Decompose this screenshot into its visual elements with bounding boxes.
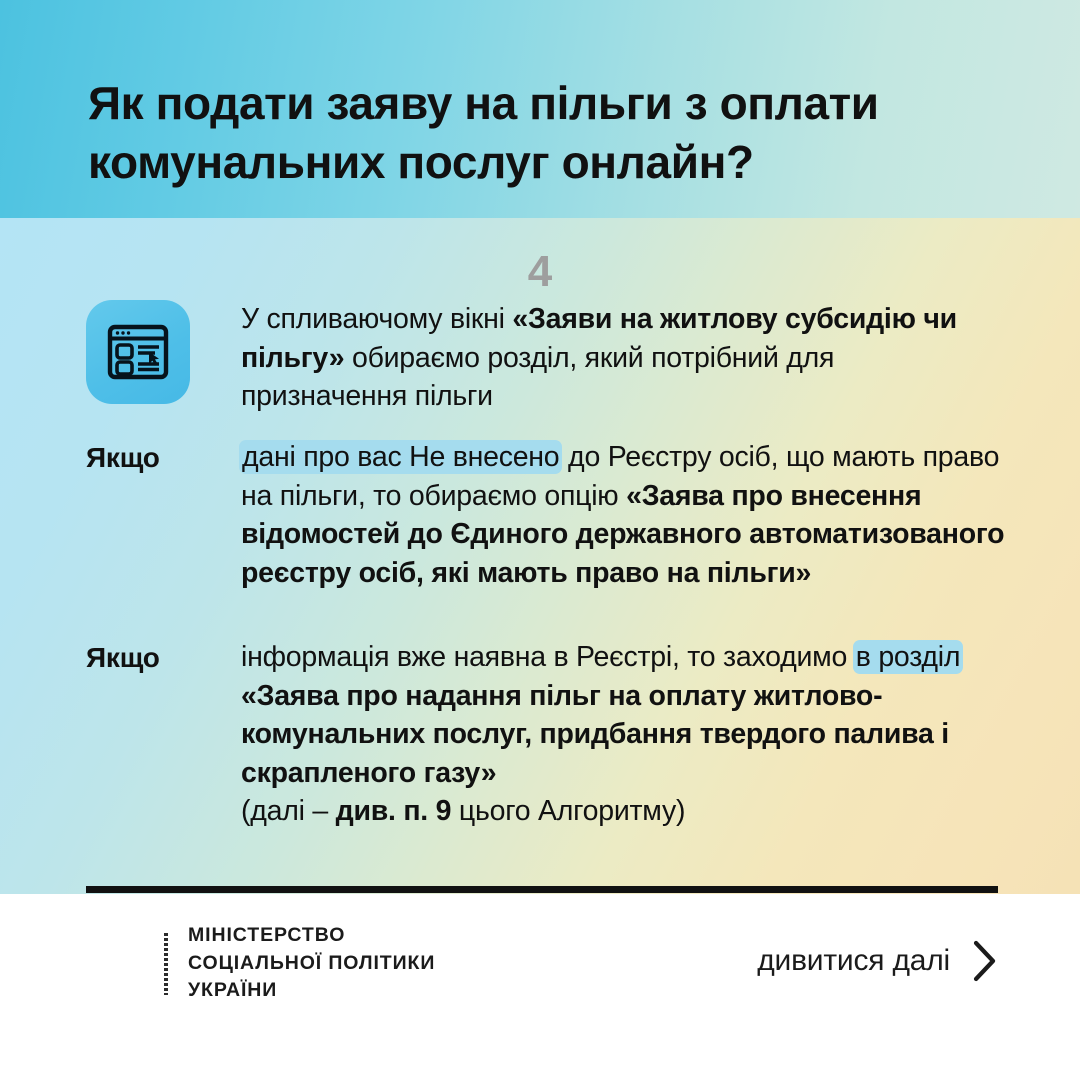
ukraine-trident-logo bbox=[86, 927, 148, 1001]
block-3-text: інформація вже наявна в Реєстрі, то захо… bbox=[241, 638, 1006, 831]
next-page-link[interactable]: дивитися далі bbox=[757, 940, 998, 982]
browser-window-select-icon bbox=[86, 300, 190, 404]
block-2-text: дані про вас Не внесено до Реєстру осіб,… bbox=[241, 438, 1006, 592]
footer-divider bbox=[86, 886, 998, 893]
page-title: Як подати заяву на пільги з оплати комун… bbox=[88, 74, 998, 192]
chevron-right-icon bbox=[972, 940, 998, 982]
block-3-text-part1: інформація вже наявна в Реєстрі, то захо… bbox=[241, 641, 855, 673]
block-1-text: У спливаючому вікні «Заяви на житлову су… bbox=[241, 300, 1006, 416]
block-1-text-part1: У спливаючому вікні bbox=[241, 303, 512, 335]
brand-separator bbox=[164, 933, 168, 995]
block-2-gutter: Якщо bbox=[86, 438, 241, 477]
content-block-2: Якщо дані про вас Не внесено до Реєстру … bbox=[86, 438, 1006, 592]
footer: МІНІСТЕРСТВО СОЦІАЛЬНОЇ ПОЛІТИКИ УКРАЇНИ… bbox=[0, 894, 1080, 1080]
block-3-bold1: «Заява про надання пільг на оплату житло… bbox=[241, 680, 949, 789]
next-page-label: дивитися далі bbox=[757, 944, 950, 978]
content-block-3: Якщо інформація вже наявна в Реєстрі, то… bbox=[86, 638, 1006, 831]
ministry-brand: МІНІСТЕРСТВО СОЦІАЛЬНОЇ ПОЛІТИКИ УКРАЇНИ bbox=[86, 922, 435, 1005]
block-3-note-prefix: (далі – bbox=[241, 795, 336, 827]
ministry-name: МІНІСТЕРСТВО СОЦІАЛЬНОЇ ПОЛІТИКИ УКРАЇНИ bbox=[188, 922, 435, 1005]
step-number: 4 bbox=[0, 250, 1080, 294]
header-band: Як подати заяву на пільги з оплати комун… bbox=[0, 0, 1080, 218]
block-3-note-suffix: цього Алгоритму) bbox=[451, 795, 685, 827]
block-2-condition-label: Якщо bbox=[86, 438, 241, 477]
block-3-note: (далі – див. п. 9 цього Алгоритму) bbox=[241, 792, 1006, 831]
block-3-gutter: Якщо bbox=[86, 638, 241, 677]
infographic-card: Як подати заяву на пільги з оплати комун… bbox=[0, 0, 1080, 1080]
block-3-condition-label: Якщо bbox=[86, 638, 241, 677]
block-3-note-bold: див. п. 9 bbox=[336, 795, 452, 827]
content-block-1: У спливаючому вікні «Заяви на житлову су… bbox=[86, 300, 1006, 416]
block-3-highlight-plain: в розділ bbox=[853, 640, 963, 674]
block-1-gutter bbox=[86, 300, 241, 404]
block-2-highlight: дані про вас Не внесено bbox=[239, 440, 562, 474]
